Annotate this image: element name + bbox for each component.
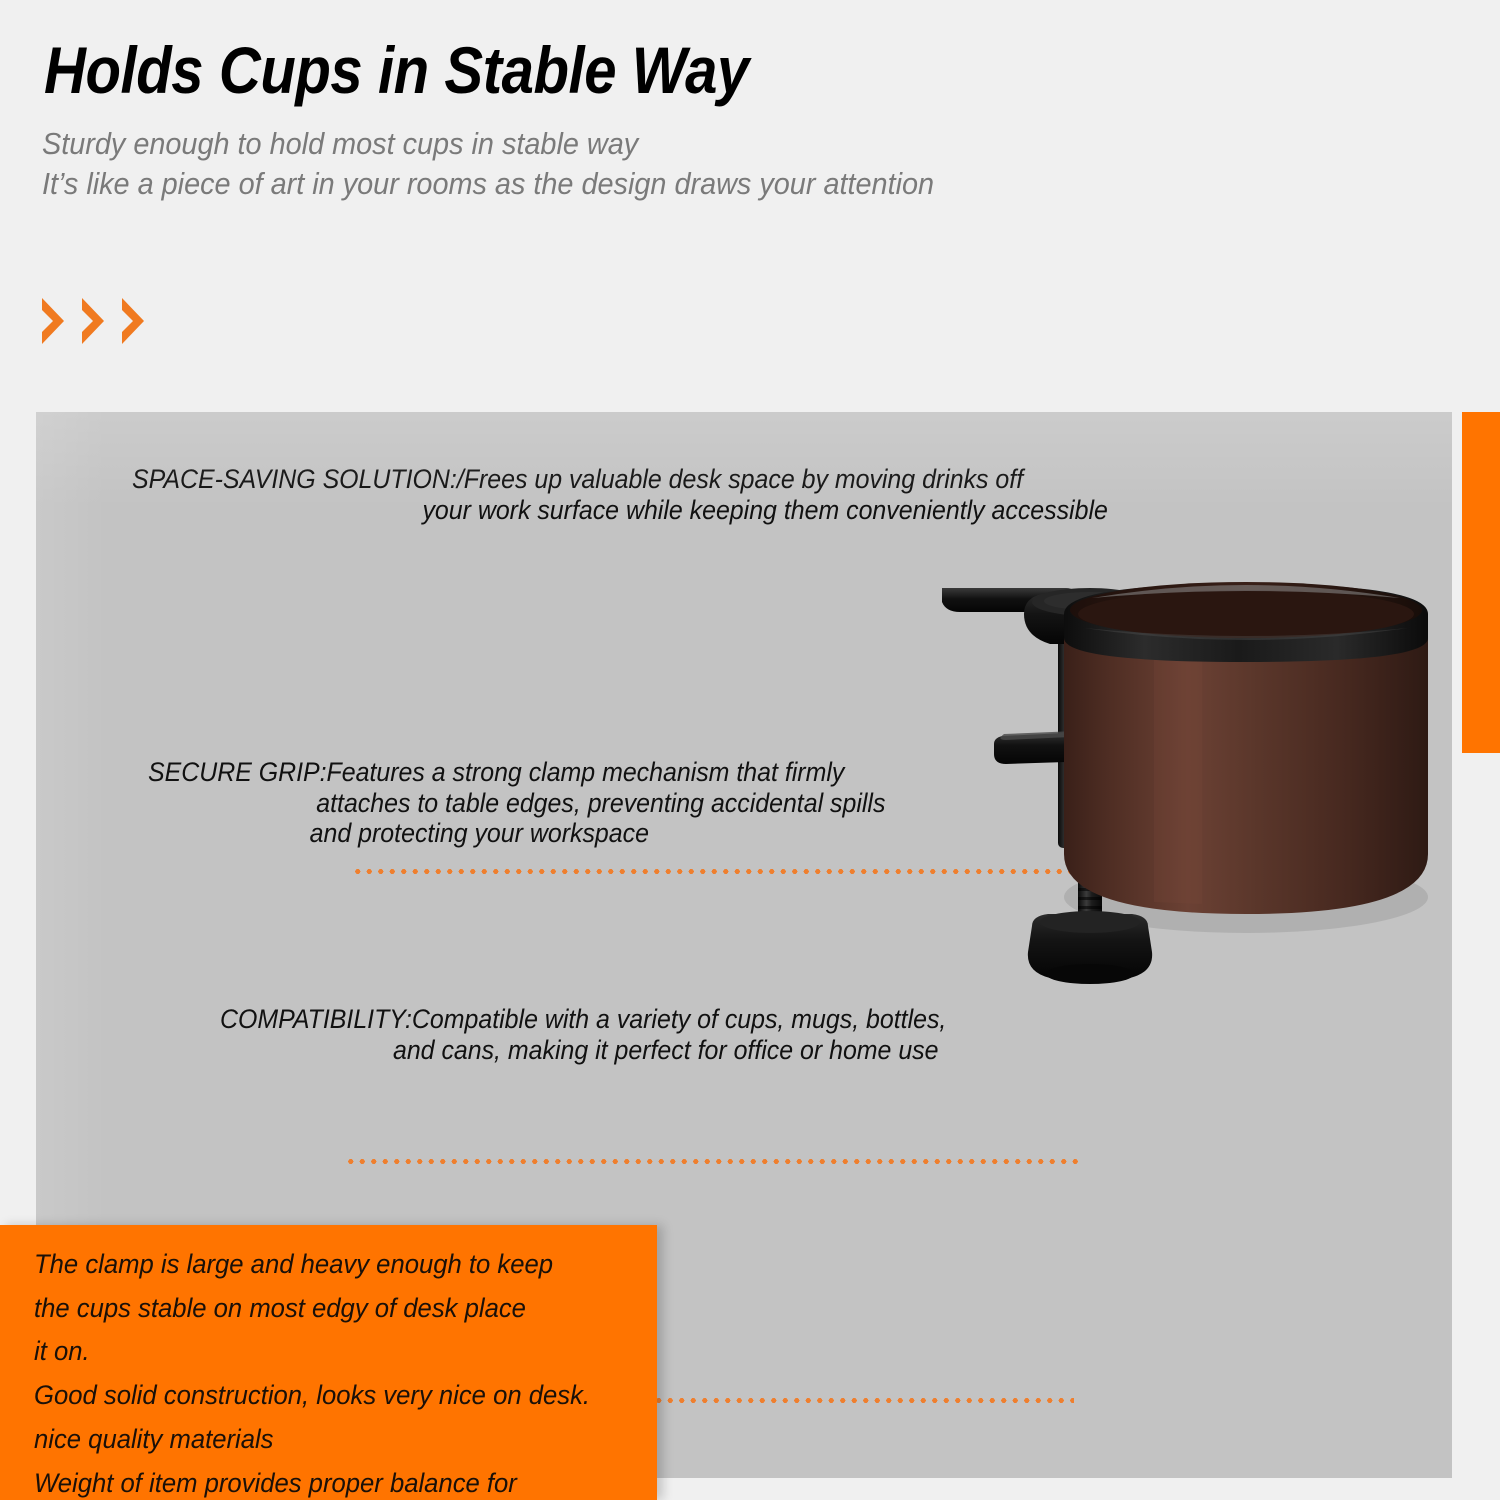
page-title: Holds Cups in Stable Way xyxy=(44,36,1188,105)
testimonial-line: Weight of item provides proper balance f… xyxy=(34,1462,614,1500)
testimonial-line: the cups stable on most edgy of desk pla… xyxy=(34,1287,614,1331)
feature-line: attaches to table edges, preventing acci… xyxy=(148,788,885,819)
feature-line: SECURE GRIP:Features a strong clamp mech… xyxy=(148,757,885,788)
page-subtitle-line-2: It’s like a piece of art in your rooms a… xyxy=(42,164,1288,204)
product-image-cup-holder xyxy=(916,502,1452,1102)
testimonial-line: nice quality materials xyxy=(34,1418,614,1462)
chevron-right-icon xyxy=(120,296,146,346)
chevron-group xyxy=(40,296,190,348)
testimonial-box: The clamp is large and heavy enough to k… xyxy=(0,1225,657,1500)
cup-holder-body xyxy=(1064,582,1428,914)
feature-line: COMPATIBILITY:Compatible with a variety … xyxy=(220,1004,946,1035)
feature-line: and cans, making it perfect for office o… xyxy=(220,1035,946,1066)
testimonial-text: The clamp is large and heavy enough to k… xyxy=(34,1243,614,1500)
dotted-rule-secure-grip xyxy=(345,1158,1080,1165)
feature-secure-grip: SECURE GRIP:Features a strong clamp mech… xyxy=(148,757,885,849)
chevron-right-icon xyxy=(80,296,106,346)
feature-compatibility: COMPATIBILITY:Compatible with a variety … xyxy=(220,1004,946,1065)
page-subtitle-line-1: Sturdy enough to hold most cups in stabl… xyxy=(42,124,1288,164)
infographic-page: Holds Cups in Stable Way Sturdy enough t… xyxy=(0,0,1500,1500)
chevron-right-icon xyxy=(40,296,66,346)
testimonial-line: Good solid construction, looks very nice… xyxy=(34,1374,614,1418)
feature-line: SPACE-SAVING SOLUTION:/Frees up valuable… xyxy=(132,464,1108,495)
page-subtitle: Sturdy enough to hold most cups in stabl… xyxy=(42,124,1288,203)
testimonial-line: The clamp is large and heavy enough to k… xyxy=(34,1243,614,1287)
lower-clamp-knob xyxy=(1028,911,1152,984)
accent-bar-right xyxy=(1462,412,1500,753)
testimonial-line: it on. xyxy=(34,1330,614,1374)
feature-line: and protecting your workspace xyxy=(148,818,885,849)
